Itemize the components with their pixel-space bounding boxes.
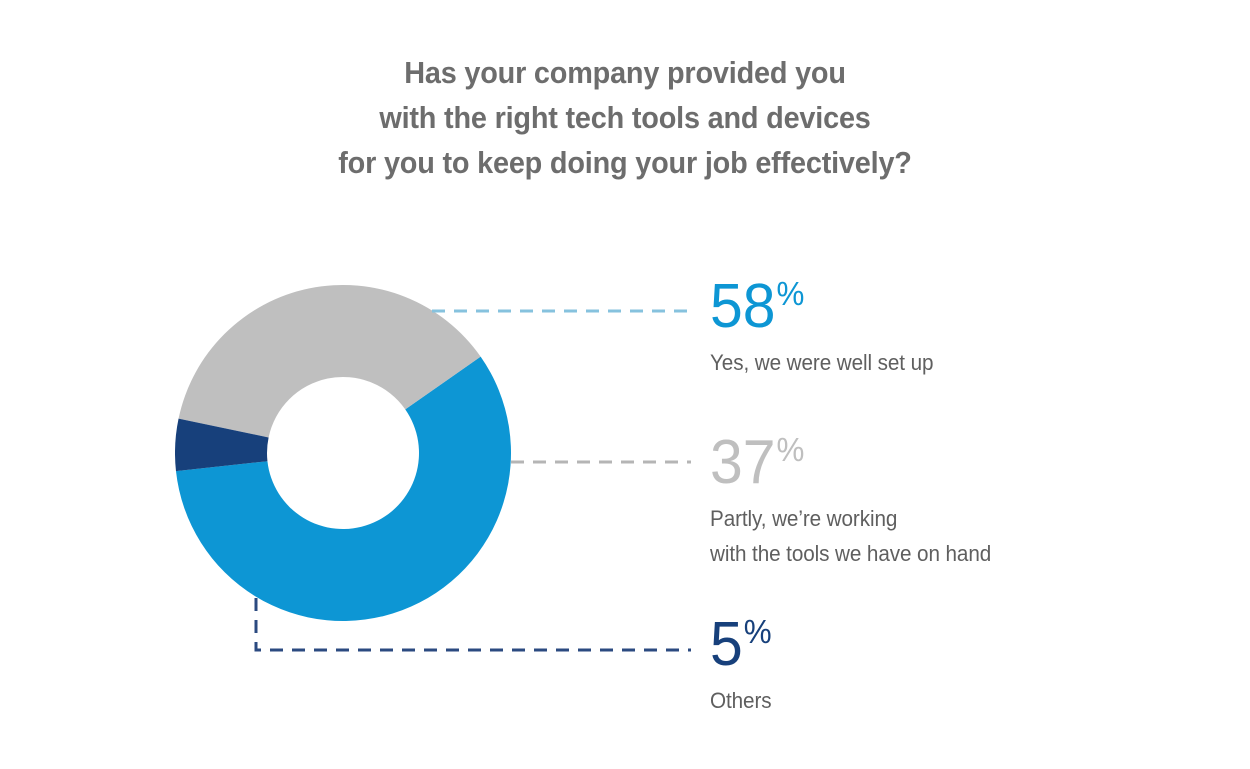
chart-legend: 58% Yes, we were well set up 37% Partly,… — [710, 0, 1230, 769]
legend-label-others: Others — [710, 683, 1199, 718]
legend-item-others[interactable]: 5% Others — [710, 600, 1230, 718]
legend-label-partly: Partly, we’re working with the tools we … — [710, 501, 1199, 571]
legend-value-partly: 37% — [710, 418, 1204, 495]
legend-value-others: 5% — [710, 600, 1204, 677]
legend-item-yes[interactable]: 58% Yes, we were well set up — [710, 262, 1230, 380]
donut-svg — [175, 285, 511, 621]
chart-canvas: Has your company provided you with the r… — [0, 0, 1250, 769]
legend-item-partly[interactable]: 37% Partly, we’re working with the tools… — [710, 418, 1230, 571]
legend-label-yes: Yes, we were well set up — [710, 345, 1199, 380]
legend-value-yes: 58% — [710, 262, 1204, 339]
donut-chart — [175, 285, 511, 621]
